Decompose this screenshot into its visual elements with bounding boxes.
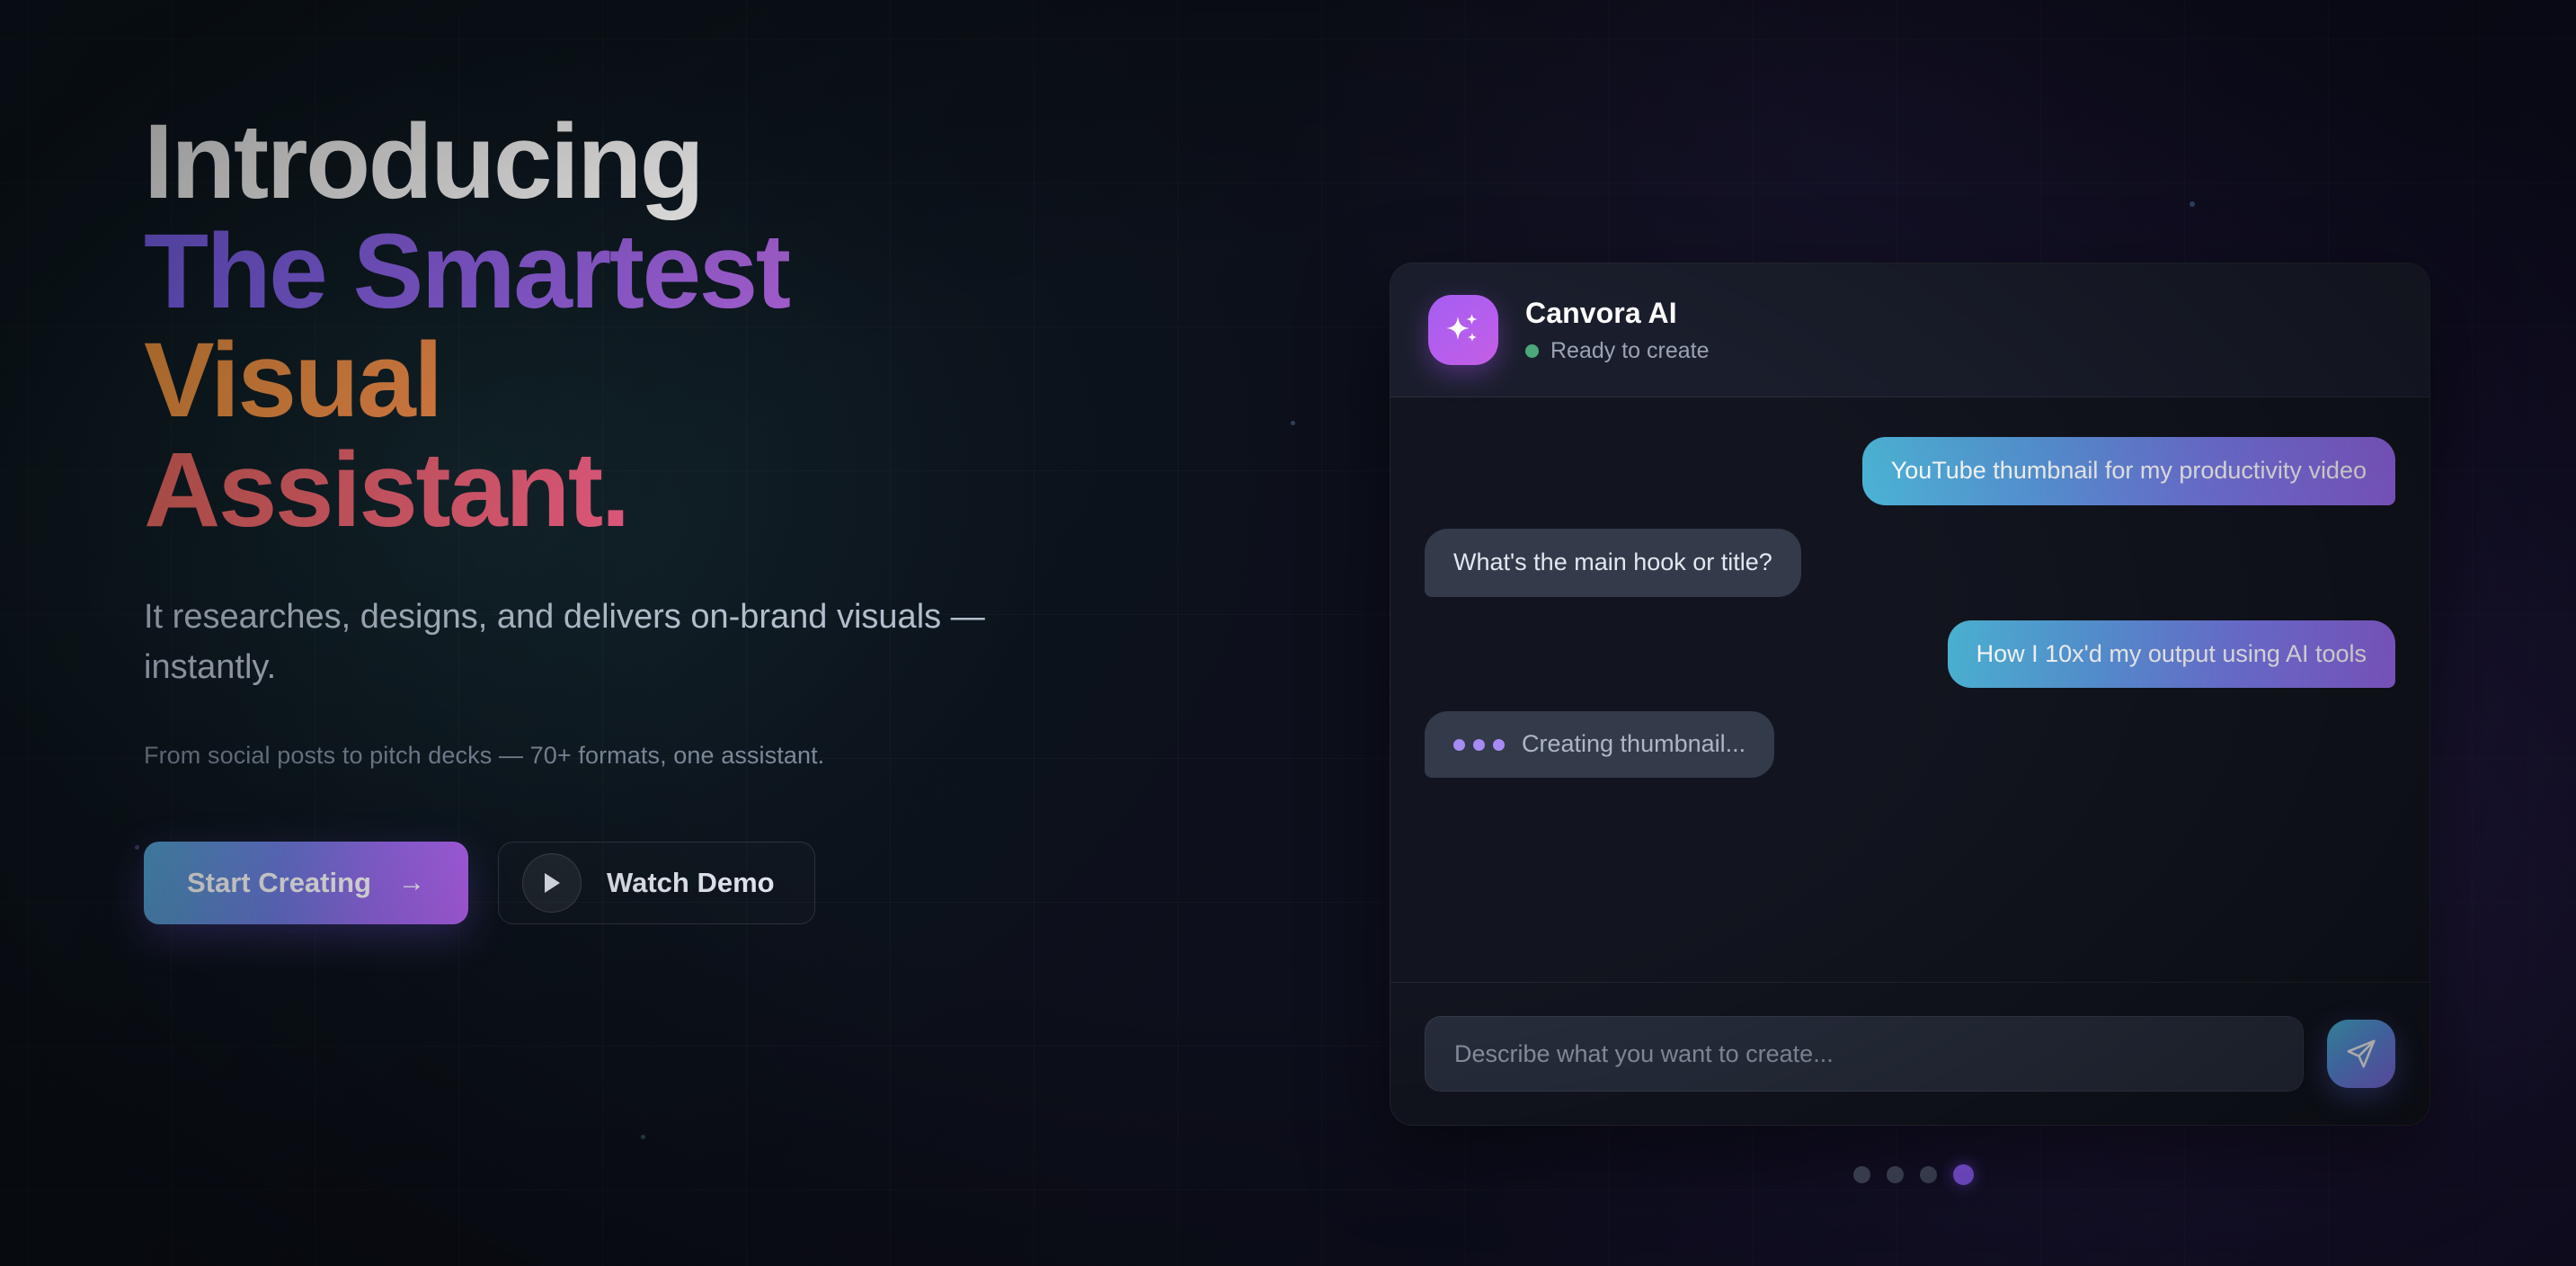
watch-demo-label: Watch Demo (607, 867, 775, 899)
chat-bubble-user: YouTube thumbnail for my productivity vi… (1862, 437, 2395, 505)
chat-message-row: How I 10x'd my output using AI tools (1425, 620, 2395, 689)
chat-bubble-typing: Creating thumbnail... (1425, 711, 1774, 778)
status-label: Ready to create (1550, 338, 1710, 364)
headline-line-2: The Smartest (144, 218, 1258, 327)
arrow-right-icon: → (398, 869, 425, 896)
particle-dot (135, 845, 139, 850)
pager-dot-3[interactable] (1920, 1166, 1937, 1183)
page-title: Introducing The Smartest Visual Assistan… (144, 108, 1258, 545)
watch-demo-button[interactable]: Watch Demo (498, 842, 815, 924)
headline-line-4: Assistant. (144, 436, 1258, 546)
sparkle-icon (1428, 295, 1498, 365)
hero-landing-page: Introducing The Smartest Visual Assistan… (0, 0, 2576, 1266)
chat-message-row: What's the main hook or title? (1425, 529, 2395, 597)
chat-message-row: Creating thumbnail... (1425, 711, 2395, 778)
chat-bubble-assistant: What's the main hook or title? (1425, 529, 1801, 597)
agent-name: Canvora AI (1525, 297, 1710, 330)
play-icon (522, 853, 582, 913)
headline-line-1: Introducing (144, 108, 1258, 218)
particle-dot (2190, 201, 2195, 207)
chat-composer (1390, 982, 2429, 1125)
particle-dot (1291, 421, 1295, 425)
pager-dot-4[interactable] (1953, 1164, 1974, 1185)
send-button[interactable] (2327, 1020, 2395, 1088)
typing-label: Creating thumbnail... (1522, 729, 1745, 760)
start-creating-label: Start Creating (187, 867, 371, 899)
chat-agent-info: Canvora AI Ready to create (1525, 297, 1710, 364)
hero-subheading: It researches, designs, and delivers on-… (144, 592, 1097, 692)
chat-input[interactable] (1425, 1016, 2304, 1092)
hero-content: Introducing The Smartest Visual Assistan… (144, 108, 1258, 924)
hero-tagline: From social posts to pitch decks — 70+ f… (144, 742, 1258, 770)
pager-dot-1[interactable] (1853, 1166, 1870, 1183)
pager-dot-2[interactable] (1887, 1166, 1904, 1183)
status-badge: Ready to create (1525, 338, 1710, 364)
particle-dot (641, 1135, 645, 1139)
chat-message-list: YouTube thumbnail for my productivity vi… (1390, 397, 2429, 982)
start-creating-button[interactable]: Start Creating → (144, 842, 468, 924)
cta-button-row: Start Creating → Watch Demo (144, 842, 1258, 924)
chat-preview-panel: Canvora AI Ready to create YouTube thumb… (1390, 263, 2430, 1126)
typing-indicator-icon (1453, 739, 1505, 751)
status-dot-icon (1525, 344, 1539, 358)
chat-message-row: YouTube thumbnail for my productivity vi… (1425, 437, 2395, 505)
send-icon (2345, 1038, 2377, 1070)
chat-header: Canvora AI Ready to create (1390, 263, 2429, 397)
chat-bubble-user: How I 10x'd my output using AI tools (1948, 620, 2395, 689)
carousel-pagination (1853, 1164, 1974, 1185)
headline-line-3: Visual (144, 326, 1258, 436)
